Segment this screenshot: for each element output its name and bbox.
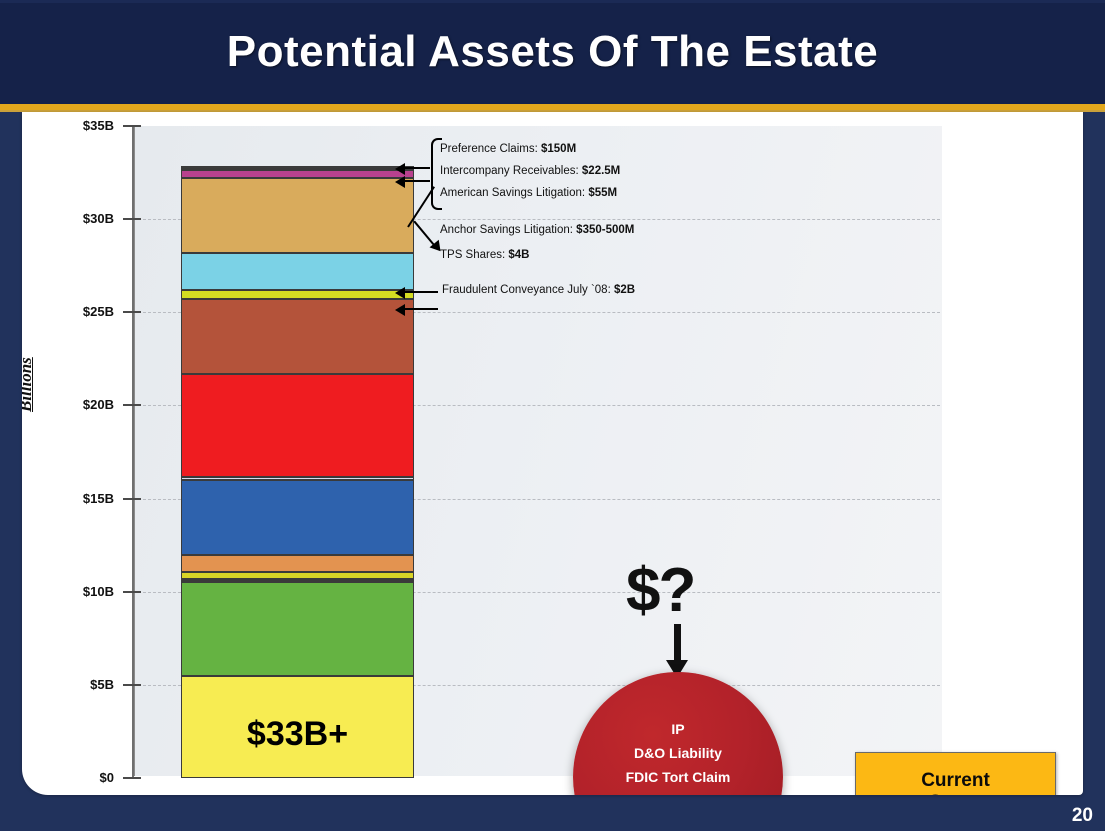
y-axis-label: $15B: [40, 491, 114, 506]
stacked-bar-chart: $35B$30B$25B$20B$15B$10B$5B$0 Billions $…: [22, 112, 1083, 795]
result-line-1: Current: [921, 770, 990, 792]
slide: Potential Assets Of The Estate $35B$30B$…: [0, 0, 1105, 831]
y-axis-title: Billions: [22, 357, 36, 412]
y-axis-label: $30B: [40, 211, 114, 226]
gridline: [133, 592, 940, 593]
callout-fraudulent-conveyance-july: Fraudulent Conveyance July `08: $2B: [442, 284, 635, 296]
y-axis-tick: [123, 684, 141, 686]
y-axis-tick: [123, 498, 141, 500]
callout-arrow-top-2: [404, 180, 430, 182]
result-line-2: Gross: [928, 792, 983, 795]
y-axis-label: $20B: [40, 397, 114, 412]
y-axis-label: $10B: [40, 584, 114, 599]
content-panel: $35B$30B$25B$20B$15B$10B$5B$0 Billions $…: [22, 112, 1083, 795]
gridline: [133, 685, 940, 686]
callout-anchor-savings-litigation: Anchor Savings Litigation: $350-500M: [440, 224, 634, 236]
callout-arrow-fc-july: [404, 291, 438, 293]
page-number: 20: [1072, 805, 1093, 827]
callout-preference-claims: Preference Claims: $150M: [440, 143, 576, 155]
y-axis-label: $25B: [40, 304, 114, 319]
callout-american-savings-litigation: American Savings Litigation: $55M: [440, 187, 617, 199]
y-axis-tick: [123, 311, 141, 313]
y-axis-tick: [123, 591, 141, 593]
gridline: [133, 219, 940, 220]
y-axis-label: $35B: [40, 118, 114, 133]
y-axis-tick: [123, 404, 141, 406]
gold-divider: [0, 104, 1105, 110]
y-axis-line: [132, 126, 134, 778]
callout-arrow-fc-sept: [404, 308, 438, 310]
y-axis-label: $5B: [40, 677, 114, 692]
y-axis-label: $0: [40, 770, 114, 785]
current-gross-recovery-box: Current Gross Recovery $7.5 Billion: [855, 752, 1056, 795]
callout-tps-shares: TPS Shares: $4B: [440, 249, 530, 261]
gridline: [133, 312, 940, 313]
circle-claim-item: IP: [671, 717, 684, 741]
y-axis-tick: [123, 777, 141, 779]
circle-claim-item: FDIC Tort Claim: [626, 765, 731, 789]
gridline: [133, 499, 940, 500]
down-arrow-icon: [674, 624, 681, 668]
callout-intercompany-receivables: Intercompany Receivables: $22.5M: [440, 165, 620, 177]
gridline: [133, 405, 940, 406]
callout-arrow-top-1: [404, 167, 430, 169]
slide-title-bar: Potential Assets Of The Estate: [0, 0, 1105, 104]
page-title: Potential Assets Of The Estate: [227, 27, 879, 77]
circle-claim-item: Third Party Claim: [620, 789, 736, 795]
unknown-amount-label: $?: [626, 555, 694, 626]
y-axis-tick: [123, 125, 141, 127]
y-axis-tick: [123, 218, 141, 220]
circle-claim-item: D&O Liability: [634, 741, 722, 765]
